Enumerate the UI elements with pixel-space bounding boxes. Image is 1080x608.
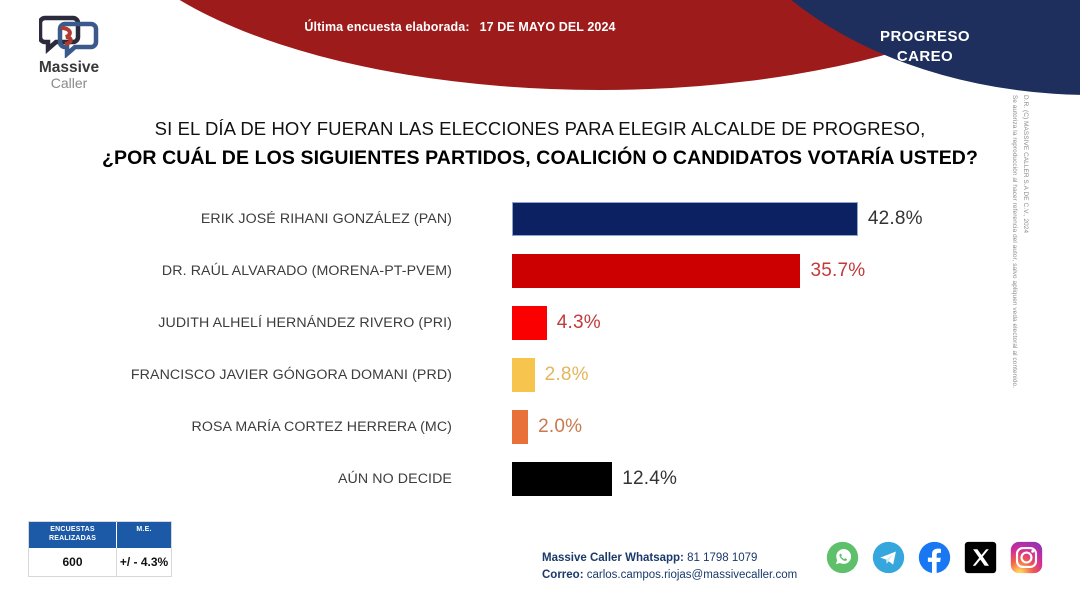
instagram-icon[interactable] [1010, 541, 1043, 574]
bar-category-label: ROSA MARÍA CORTEZ HERRERA (MC) [191, 419, 452, 435]
social-links [826, 541, 1043, 574]
stats-header-margin: M.E. [117, 522, 171, 548]
bar-value-label: 12.4% [622, 468, 677, 490]
whatsapp-icon[interactable] [826, 541, 859, 574]
contact-email: Correo: carlos.campos.riojas@massivecall… [542, 567, 797, 584]
stats-value-row: 600 +/ - 4.3% [29, 548, 171, 576]
contact-whatsapp-value: 81 1798 1079 [687, 552, 757, 564]
bar-value-label: 35.7% [810, 260, 865, 282]
survey-location-city: PROGRESO [840, 27, 1010, 47]
bar-track: 4.3% [512, 297, 1020, 349]
chart-row: ERIK JOSÉ RIHANI GONZÁLEZ (PAN)42.8% [0, 193, 1020, 245]
survey-date-value: 17 DE MAYO DEL 2024 [480, 20, 616, 34]
bar-track: 42.8% [512, 193, 1020, 245]
page-title: SI EL DÍA DE HOY FUERAN LAS ELECCIONES P… [60, 117, 1020, 171]
chart-row: FRANCISCO JAVIER GÓNGORA DOMANI (PRD)2.8… [0, 349, 1020, 401]
survey-date-label: Última encuesta elaborada: [304, 20, 469, 34]
bar-value-label: 2.8% [545, 364, 589, 386]
bar-5 [512, 410, 528, 444]
x-twitter-icon[interactable] [964, 541, 997, 574]
page-header: Última encuesta elaborada:17 DE MAYO DEL… [0, 0, 1080, 100]
bar-1 [512, 202, 858, 236]
chart-row: DR. RAÚL ALVARADO (MORENA-PT-PVEM)35.7% [0, 245, 1020, 297]
survey-location: PROGRESO CAREO [840, 27, 1010, 68]
stats-header-sample: ENCUESTAS REALIZADAS [29, 522, 117, 548]
chat-bubble-icon [39, 14, 99, 58]
survey-stats-table: ENCUESTAS REALIZADAS M.E. 600 +/ - 4.3% [28, 521, 172, 577]
page-title-line2: ¿POR CUÁL DE LOS SIGUIENTES PARTIDOS, CO… [60, 145, 1020, 171]
stats-header-row: ENCUESTAS REALIZADAS M.E. [29, 522, 171, 548]
bar-track: 2.0% [512, 401, 1020, 453]
contact-whatsapp-label: Massive Caller Whatsapp: [542, 552, 684, 564]
bar-category-label: FRANCISCO JAVIER GÓNGORA DOMANI (PRD) [131, 367, 452, 383]
bar-2 [512, 254, 800, 288]
copyright-line2: Se autoriza la reproducción al hacer ref… [1008, 95, 1019, 515]
contact-whatsapp: Massive Caller Whatsapp: 81 1798 1079 [542, 550, 797, 567]
stats-value-sample: 600 [29, 548, 117, 576]
bar-category-label: DR. RAÚL ALVARADO (MORENA-PT-PVEM) [162, 263, 452, 279]
brand-logo: Massive Caller [26, 14, 112, 90]
chart-row: ROSA MARÍA CORTEZ HERRERA (MC)2.0% [0, 401, 1020, 453]
bar-track: 12.4% [512, 453, 1020, 505]
logo-text-massive: Massive [26, 60, 112, 76]
logo-text-caller: Caller [26, 76, 112, 91]
telegram-icon[interactable] [872, 541, 905, 574]
bar-category-label: JUDITH ALHELÍ HERNÁNDEZ RIVERO (PRI) [158, 315, 452, 331]
survey-location-type: CAREO [840, 47, 1010, 67]
bar-value-label: 2.0% [538, 416, 582, 438]
chart-row: AÚN NO DECIDE12.4% [0, 453, 1020, 505]
copyright-notice: D.R. (C) MASSIVE CALLER S.A DE C.V., 202… [1008, 95, 1030, 515]
contact-email-label: Correo: [542, 569, 584, 581]
poll-bar-chart: ERIK JOSÉ RIHANI GONZÁLEZ (PAN)42.8%DR. … [0, 193, 1020, 503]
bar-value-label: 42.8% [868, 208, 923, 230]
bar-4 [512, 358, 535, 392]
stats-header-sample-line1: ENCUESTAS [50, 526, 94, 533]
chart-row: JUDITH ALHELÍ HERNÁNDEZ RIVERO (PRI)4.3% [0, 297, 1020, 349]
bar-3 [512, 306, 547, 340]
bar-6 [512, 462, 612, 496]
bar-category-label: ERIK JOSÉ RIHANI GONZÁLEZ (PAN) [201, 211, 452, 227]
bar-track: 35.7% [512, 245, 1020, 297]
stats-value-margin: +/ - 4.3% [117, 548, 171, 576]
bar-value-label: 4.3% [557, 312, 601, 334]
copyright-line1: D.R. (C) MASSIVE CALLER S.A DE C.V., 202… [1019, 95, 1030, 515]
contact-email-value: carlos.campos.riojas@massivecaller.com [587, 569, 797, 581]
bar-track: 2.8% [512, 349, 1020, 401]
facebook-icon[interactable] [918, 541, 951, 574]
page-title-line1: SI EL DÍA DE HOY FUERAN LAS ELECCIONES P… [60, 117, 1020, 142]
survey-date: Última encuesta elaborada:17 DE MAYO DEL… [240, 20, 680, 34]
bar-category-label: AÚN NO DECIDE [338, 471, 452, 487]
contact-info: Massive Caller Whatsapp: 81 1798 1079 Co… [542, 550, 797, 585]
stats-header-sample-line2: REALIZADAS [49, 535, 96, 542]
